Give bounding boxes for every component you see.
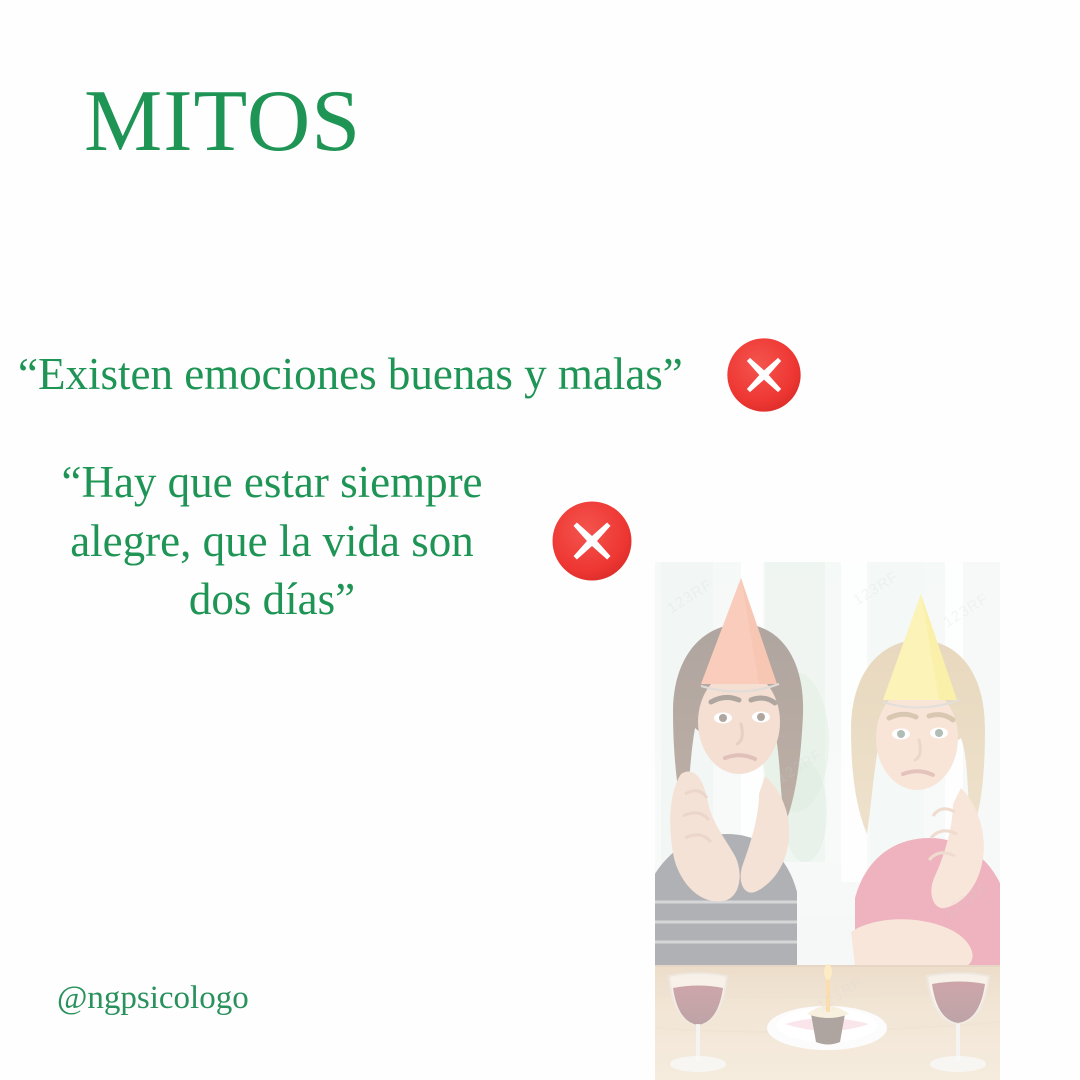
- poster-canvas: MITOS “Existen emociones buenas y malas”…: [0, 0, 1080, 1080]
- red-cross-circle-icon: [725, 336, 803, 414]
- page-title: MITOS: [84, 78, 361, 166]
- myth-item: “Hay que estar siempre alegre, que la vi…: [22, 453, 662, 629]
- stock-photo: 123RF 123RF 123RF 123RF 123RF 123RF: [655, 562, 1000, 1080]
- myth-item: “Existen emociones buenas y malas”: [18, 336, 938, 414]
- red-cross-circle-icon: [550, 499, 634, 583]
- myth-quote-text: “Existen emociones buenas y malas”: [18, 346, 683, 404]
- social-handle: @ngpsicologo: [57, 980, 249, 1017]
- myth-quote-text: “Hay que estar siempre alegre, que la vi…: [22, 453, 522, 629]
